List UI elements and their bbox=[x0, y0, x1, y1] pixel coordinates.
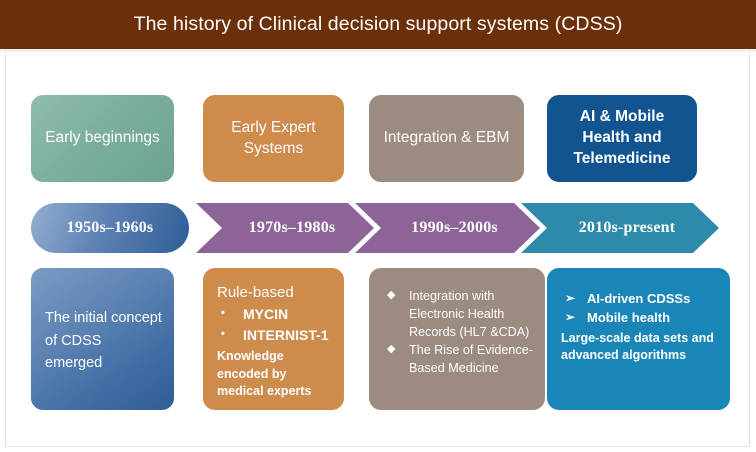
detail-box-early-expert-systems[interactable]: Rule-based • MYCIN • INTERNIST-1 Knowled… bbox=[203, 268, 344, 410]
bullet-list: ➢ AI-driven CDSSs ➢ Mobile health bbox=[561, 290, 718, 328]
detail-note: Large-scale data sets and advanced algor… bbox=[561, 330, 718, 365]
stage-box-early-expert-systems[interactable]: Early Expert Systems bbox=[203, 95, 344, 182]
list-item-label: MYCIN bbox=[243, 305, 332, 325]
era-label: 2010s-present bbox=[579, 219, 676, 237]
stage-box-early-beginnings[interactable]: Early beginnings bbox=[31, 95, 174, 182]
stage-label: Early beginnings bbox=[45, 128, 160, 149]
era-label: 1950s–1960s bbox=[67, 219, 154, 237]
era-chevron-2010s-present[interactable]: 2010s-present bbox=[521, 203, 719, 253]
page-title: The history of Clinical decision support… bbox=[134, 13, 623, 36]
detail-title: Rule-based bbox=[217, 282, 332, 303]
list-item-label: Integration with Electronic Health Recor… bbox=[409, 288, 533, 342]
stage-label: Early Expert Systems bbox=[211, 118, 336, 160]
arrow-bullet-icon: ➢ bbox=[561, 309, 587, 326]
list-item: • MYCIN bbox=[217, 305, 332, 325]
era-label: 1990s–2000s bbox=[411, 219, 498, 237]
detail-box-ai-mobile-health[interactable]: ➢ AI-driven CDSSs ➢ Mobile health Large-… bbox=[547, 268, 730, 410]
list-item: ➢ AI-driven CDSSs bbox=[561, 290, 718, 308]
era-pill-1950s-1960s[interactable]: 1950s–1960s bbox=[31, 203, 189, 253]
list-item: ➢ Mobile health bbox=[561, 309, 718, 327]
era-chevron-1990s-2000s[interactable]: 1990s–2000s bbox=[355, 203, 540, 253]
list-item-label: AI-driven CDSSs bbox=[587, 290, 718, 308]
detail-box-integration-ebm[interactable]: ◆ Integration with Electronic Health Rec… bbox=[369, 268, 545, 410]
detail-box-early-beginnings[interactable]: The initial concept of CDSS emerged bbox=[31, 268, 174, 410]
list-item-label: The Rise of Evidence-Based Medicine bbox=[409, 342, 533, 378]
stage-label: AI & Mobile Health and Telemedicine bbox=[555, 107, 689, 170]
list-item: ◆ Integration with Electronic Health Rec… bbox=[383, 288, 533, 342]
detail-lead-text: The initial concept of CDSS emerged bbox=[45, 307, 162, 374]
diamond-bullet-icon: ◆ bbox=[383, 342, 409, 358]
bullet-list: • MYCIN • INTERNIST-1 bbox=[217, 305, 332, 346]
header-underline bbox=[0, 49, 756, 52]
stage-label: Integration & EBM bbox=[384, 128, 510, 149]
diamond-bullet-icon: ◆ bbox=[383, 288, 409, 304]
list-item-label: Mobile health bbox=[587, 309, 718, 327]
infographic-canvas: The history of Clinical decision support… bbox=[0, 0, 756, 452]
header-banner: The history of Clinical decision support… bbox=[0, 0, 756, 49]
list-item-label: INTERNIST-1 bbox=[243, 326, 332, 346]
era-chevron-1970s-1980s[interactable]: 1970s–1980s bbox=[196, 203, 374, 253]
list-item: • INTERNIST-1 bbox=[217, 326, 332, 346]
list-item: ◆ The Rise of Evidence-Based Medicine bbox=[383, 342, 533, 378]
arrow-bullet-icon: ➢ bbox=[561, 290, 587, 307]
bullet-list: ◆ Integration with Electronic Health Rec… bbox=[383, 288, 533, 377]
era-label: 1970s–1980s bbox=[249, 219, 336, 237]
disc-bullet-icon: • bbox=[217, 326, 243, 343]
disc-bullet-icon: • bbox=[217, 305, 243, 322]
stage-box-ai-mobile-health[interactable]: AI & Mobile Health and Telemedicine bbox=[547, 95, 697, 182]
detail-note: Knowledge encoded by medical experts bbox=[217, 348, 332, 401]
stage-box-integration-ebm[interactable]: Integration & EBM bbox=[369, 95, 524, 182]
